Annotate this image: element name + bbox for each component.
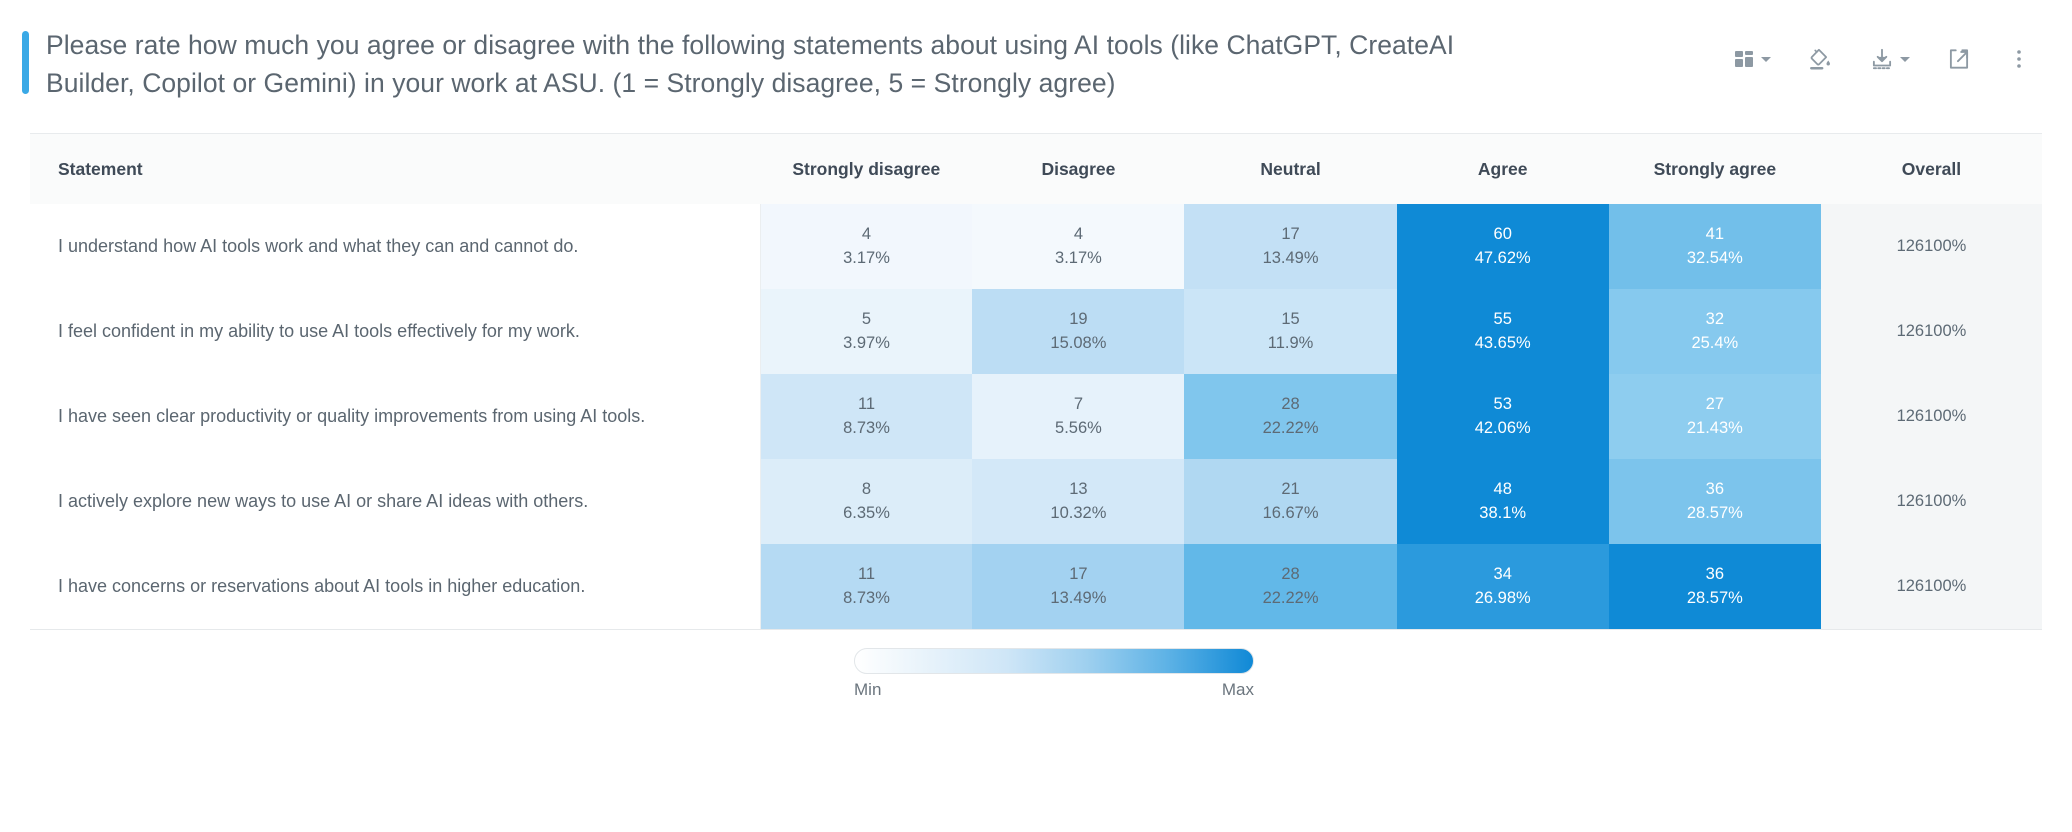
heatmap-legend: Min Max <box>854 648 1254 700</box>
table-row: I have concerns or reservations about AI… <box>30 544 2042 629</box>
heatmap-cell[interactable]: 3628.57% <box>1609 544 1821 629</box>
more-vertical-icon <box>2008 46 2030 72</box>
cell-percent: 3.17% <box>972 247 1184 270</box>
legend-gradient-bar <box>854 648 1254 674</box>
more-options-button[interactable] <box>2004 40 2034 78</box>
overall-count: 126 <box>1897 322 1925 340</box>
cell-percent: 21.43% <box>1609 417 1821 440</box>
download-button[interactable] <box>1865 40 1914 78</box>
table-row: I actively explore new ways to use AI or… <box>30 459 2042 544</box>
cell-count: 28 <box>1184 393 1396 416</box>
cell-percent: 43.65% <box>1397 332 1609 355</box>
chevron-down-icon <box>1761 57 1771 62</box>
overall-cell: 126100% <box>1821 204 2042 289</box>
cell-count: 48 <box>1397 478 1609 501</box>
cell-count: 4 <box>972 223 1184 246</box>
legend-labels: Min Max <box>854 680 1254 700</box>
heatmap-cell[interactable]: 2822.22% <box>1184 544 1396 629</box>
table-row: I have seen clear productivity or qualit… <box>30 374 2042 459</box>
cell-count: 4 <box>761 223 973 246</box>
cell-count: 36 <box>1609 563 1821 586</box>
heatmap-cell[interactable]: 5543.65% <box>1397 289 1609 374</box>
cell-count: 34 <box>1397 563 1609 586</box>
table-row: I feel confident in my ability to use AI… <box>30 289 2042 374</box>
column-header-strongly-disagree[interactable]: Strongly disagree <box>760 134 972 204</box>
paint-bucket-icon <box>1807 46 1833 72</box>
heatmap-cell[interactable]: 75.56% <box>972 374 1184 459</box>
overall-percent: 100% <box>1924 577 1966 595</box>
accent-bar <box>22 31 29 94</box>
heatmap-cell[interactable]: 6047.62% <box>1397 204 1609 289</box>
cell-percent: 42.06% <box>1397 417 1609 440</box>
cell-count: 15 <box>1184 308 1396 331</box>
cell-percent: 22.22% <box>1184 587 1396 610</box>
cell-count: 32 <box>1609 308 1821 331</box>
cell-percent: 8.73% <box>761 417 973 440</box>
heatmap-cell[interactable]: 2822.22% <box>1184 374 1396 459</box>
heatmap-cell[interactable]: 3628.57% <box>1609 459 1821 544</box>
layout-icon <box>1732 47 1756 71</box>
overall-count: 126 <box>1897 492 1925 510</box>
column-header-agree[interactable]: Agree <box>1397 134 1609 204</box>
cell-count: 7 <box>972 393 1184 416</box>
cell-percent: 16.67% <box>1184 502 1396 525</box>
cell-percent: 13.49% <box>1184 247 1396 270</box>
column-header-overall[interactable]: Overall <box>1821 134 2042 204</box>
heatmap-cell[interactable]: 43.17% <box>972 204 1184 289</box>
cell-percent: 10.32% <box>972 502 1184 525</box>
legend-min-label: Min <box>854 680 881 700</box>
cell-count: 13 <box>972 478 1184 501</box>
table-header-row: Statement Strongly disagree Disagree Neu… <box>30 134 2042 204</box>
overall-percent: 100% <box>1924 407 1966 425</box>
heatmap-cell[interactable]: 1713.49% <box>1184 204 1396 289</box>
heatmap-cell[interactable]: 4132.54% <box>1609 204 1821 289</box>
survey-matrix-table: Statement Strongly disagree Disagree Neu… <box>30 134 2042 630</box>
heatmap-cell[interactable]: 86.35% <box>760 459 972 544</box>
column-header-statement[interactable]: Statement <box>30 134 760 204</box>
cell-percent: 3.17% <box>761 247 973 270</box>
heatmap-cell[interactable]: 3426.98% <box>1397 544 1609 629</box>
cell-count: 17 <box>1184 223 1396 246</box>
cell-count: 17 <box>972 563 1184 586</box>
heatmap-cell[interactable]: 1713.49% <box>972 544 1184 629</box>
heatmap-cell[interactable]: 5342.06% <box>1397 374 1609 459</box>
share-button[interactable] <box>1942 40 1976 78</box>
download-icon <box>1869 46 1895 72</box>
overall-count: 126 <box>1897 577 1925 595</box>
cell-percent: 22.22% <box>1184 417 1396 440</box>
overall-cell: 126100% <box>1821 459 2042 544</box>
overall-percent: 100% <box>1924 237 1966 255</box>
cell-percent: 15.08% <box>972 332 1184 355</box>
cell-count: 5 <box>761 308 973 331</box>
statement-cell: I understand how AI tools work and what … <box>30 204 760 289</box>
cell-percent: 5.56% <box>972 417 1184 440</box>
overall-percent: 100% <box>1924 322 1966 340</box>
heatmap-cell[interactable]: 118.73% <box>760 374 972 459</box>
cell-count: 21 <box>1184 478 1396 501</box>
page-title: Please rate how much you agree or disagr… <box>46 26 1546 102</box>
statement-cell: I have concerns or reservations about AI… <box>30 544 760 629</box>
cell-percent: 6.35% <box>761 502 973 525</box>
legend-max-label: Max <box>1222 680 1254 700</box>
cell-count: 8 <box>761 478 973 501</box>
heatmap-cell[interactable]: 2721.43% <box>1609 374 1821 459</box>
table-row: I understand how AI tools work and what … <box>30 204 2042 289</box>
cell-count: 53 <box>1397 393 1609 416</box>
cell-count: 28 <box>1184 563 1396 586</box>
fill-color-button[interactable] <box>1803 40 1837 78</box>
cell-percent: 11.9% <box>1184 332 1396 355</box>
heatmap-cell[interactable]: 1511.9% <box>1184 289 1396 374</box>
overall-count: 126 <box>1897 237 1925 255</box>
statement-cell: I feel confident in my ability to use AI… <box>30 289 760 374</box>
heatmap-cell[interactable]: 2116.67% <box>1184 459 1396 544</box>
statement-cell: I have seen clear productivity or qualit… <box>30 374 760 459</box>
overall-cell: 126100% <box>1821 374 2042 459</box>
cell-percent: 3.97% <box>761 332 973 355</box>
table-header: Statement Strongly disagree Disagree Neu… <box>30 134 2042 204</box>
card-header: Please rate how much you agree or disagr… <box>0 0 2072 102</box>
chevron-down-icon <box>1900 57 1910 62</box>
heatmap-cell[interactable]: 53.97% <box>760 289 972 374</box>
cell-count: 60 <box>1397 223 1609 246</box>
cell-percent: 32.54% <box>1609 247 1821 270</box>
matrix-table-wrapper: Statement Strongly disagree Disagree Neu… <box>30 133 2042 630</box>
cell-percent: 38.1% <box>1397 502 1609 525</box>
overall-cell: 126100% <box>1821 544 2042 629</box>
cell-count: 36 <box>1609 478 1821 501</box>
statement-cell: I actively explore new ways to use AI or… <box>30 459 760 544</box>
cell-percent: 28.57% <box>1609 502 1821 525</box>
cell-percent: 13.49% <box>972 587 1184 610</box>
share-export-icon <box>1946 46 1972 72</box>
cell-count: 41 <box>1609 223 1821 246</box>
cell-percent: 25.4% <box>1609 332 1821 355</box>
overall-percent: 100% <box>1924 492 1966 510</box>
column-header-strongly-agree[interactable]: Strongly agree <box>1609 134 1821 204</box>
card-toolbar <box>1728 26 2042 78</box>
heatmap-cell[interactable]: 1915.08% <box>972 289 1184 374</box>
column-header-neutral[interactable]: Neutral <box>1184 134 1396 204</box>
overall-cell: 126100% <box>1821 289 2042 374</box>
cell-count: 55 <box>1397 308 1609 331</box>
heatmap-cell[interactable]: 1310.32% <box>972 459 1184 544</box>
overall-count: 126 <box>1897 407 1925 425</box>
heatmap-cell[interactable]: 3225.4% <box>1609 289 1821 374</box>
cell-percent: 26.98% <box>1397 587 1609 610</box>
cell-percent: 8.73% <box>761 587 973 610</box>
heatmap-cell[interactable]: 43.17% <box>760 204 972 289</box>
survey-matrix-card: Please rate how much you agree or disagr… <box>0 0 2072 832</box>
column-header-disagree[interactable]: Disagree <box>972 134 1184 204</box>
table-body: I understand how AI tools work and what … <box>30 204 2042 629</box>
heatmap-cell[interactable]: 118.73% <box>760 544 972 629</box>
heatmap-cell[interactable]: 4838.1% <box>1397 459 1609 544</box>
cell-percent: 47.62% <box>1397 247 1609 270</box>
cell-count: 11 <box>761 563 973 586</box>
cell-count: 19 <box>972 308 1184 331</box>
layout-button[interactable] <box>1728 41 1775 77</box>
cell-percent: 28.57% <box>1609 587 1821 610</box>
cell-count: 27 <box>1609 393 1821 416</box>
cell-count: 11 <box>761 393 973 416</box>
